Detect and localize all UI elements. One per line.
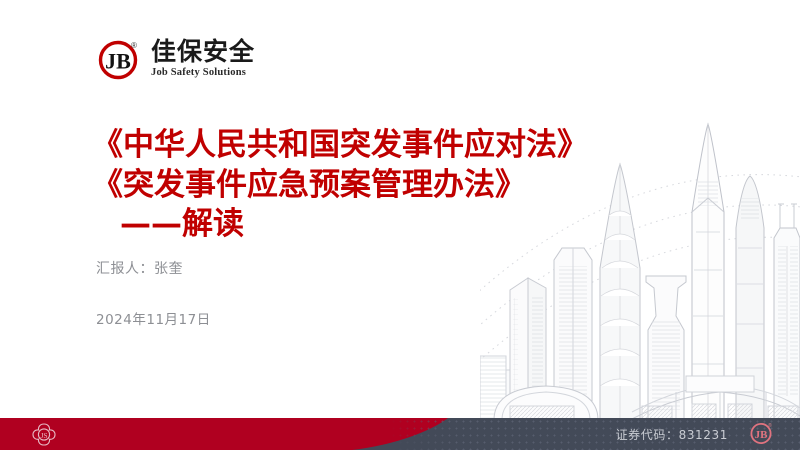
brand-name-en: Job Safety Solutions — [151, 68, 255, 79]
slide-title: 《中华人民共和国突发事件应对法》 《突发事件应急预案管理办法》 ——解读 — [92, 126, 632, 245]
presenter-label: 汇报人：张奎 — [96, 258, 211, 278]
registered-mark: ® — [131, 41, 137, 50]
quatrefoil-monogram-watermark-icon: JS — [30, 421, 58, 447]
date-label: 2024年11月17日 — [96, 308, 211, 328]
title-line-2: 《突发事件应急预案管理办法》 — [92, 166, 632, 206]
svg-text:JS: JS — [40, 431, 47, 440]
jb-logo-letters: JB — [105, 49, 131, 74]
securities-code: 证券代码：831231 — [616, 418, 728, 450]
title-line-3: ——解读 — [92, 205, 632, 245]
jb-circle-logo-icon: JB ® — [96, 36, 142, 82]
corner-jb-letters: JB — [755, 429, 769, 441]
footer-bar: JS 证券代码：831231 JB ® — [0, 418, 800, 450]
brand-logo: JB ® 佳保安全 Job Safety Solutions — [96, 36, 255, 82]
title-line-1: 《中华人民共和国突发事件应对法》 — [92, 126, 632, 166]
svg-text:®: ® — [768, 422, 772, 429]
corner-jb-logo-icon: JB ® — [748, 420, 774, 446]
brand-name-cn: 佳保安全 — [151, 39, 255, 64]
slide-meta: 汇报人：张奎 2024年11月17日 — [96, 258, 211, 328]
presentation-slide: JB ® 佳保安全 Job Safety Solutions 《中华人民共和国突… — [0, 0, 800, 450]
